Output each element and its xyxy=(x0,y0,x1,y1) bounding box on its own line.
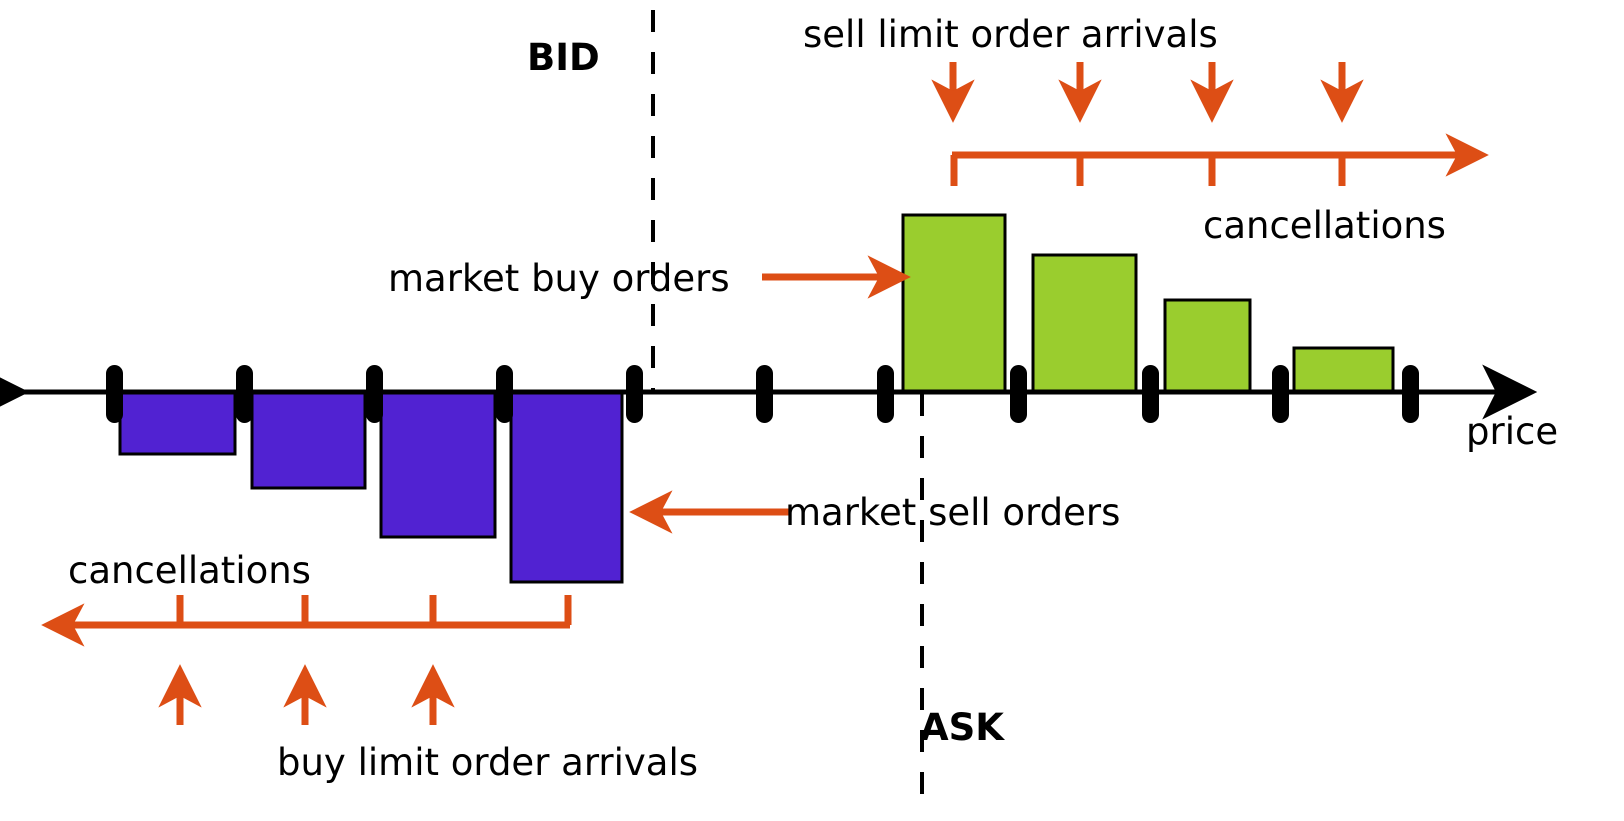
ask-cancellations-bracket xyxy=(952,155,1478,186)
diagram-canvas: BID ASK sell limit order arrivals buy li… xyxy=(0,0,1624,821)
bid-cancellations-bracket xyxy=(52,595,570,625)
price-axis-label: price xyxy=(1466,410,1558,453)
ask-cancellations-label: cancellations xyxy=(1203,204,1446,247)
sell-limit-order-arrivals-label: sell limit order arrivals xyxy=(803,13,1218,56)
price-tick xyxy=(1402,365,1419,423)
buy-limit-arrival-arrows xyxy=(180,675,433,725)
price-tick xyxy=(366,365,383,423)
price-tick xyxy=(106,365,123,423)
ask-bar-1 xyxy=(903,215,1005,392)
price-tick xyxy=(1010,365,1027,423)
price-tick-ask xyxy=(877,365,894,423)
buy-limit-order-arrivals-label: buy limit order arrivals xyxy=(277,741,698,784)
market-buy-orders-label: market buy orders xyxy=(388,257,730,300)
bid-label: BID xyxy=(527,36,600,79)
bid-bar-2 xyxy=(252,392,365,488)
price-tick xyxy=(756,365,773,423)
price-tick-bid xyxy=(626,365,643,423)
ask-label: ASK xyxy=(920,706,1005,749)
ask-bar-2 xyxy=(1033,255,1136,392)
bid-bar-4 xyxy=(511,392,622,582)
price-tick xyxy=(1142,365,1159,423)
order-book-figure: BID ASK sell limit order arrivals buy li… xyxy=(0,0,1624,821)
bid-bar-1 xyxy=(120,392,235,454)
market-sell-orders-label: market sell orders xyxy=(785,491,1120,534)
bid-cancellations-label: cancellations xyxy=(68,549,311,592)
price-tick xyxy=(496,365,513,423)
price-tick xyxy=(236,365,253,423)
sell-limit-arrival-arrows xyxy=(953,62,1342,112)
price-tick xyxy=(1272,365,1289,423)
ask-bar-4 xyxy=(1294,348,1393,392)
ask-bar-3 xyxy=(1165,300,1250,392)
bid-bar-3 xyxy=(381,392,495,537)
